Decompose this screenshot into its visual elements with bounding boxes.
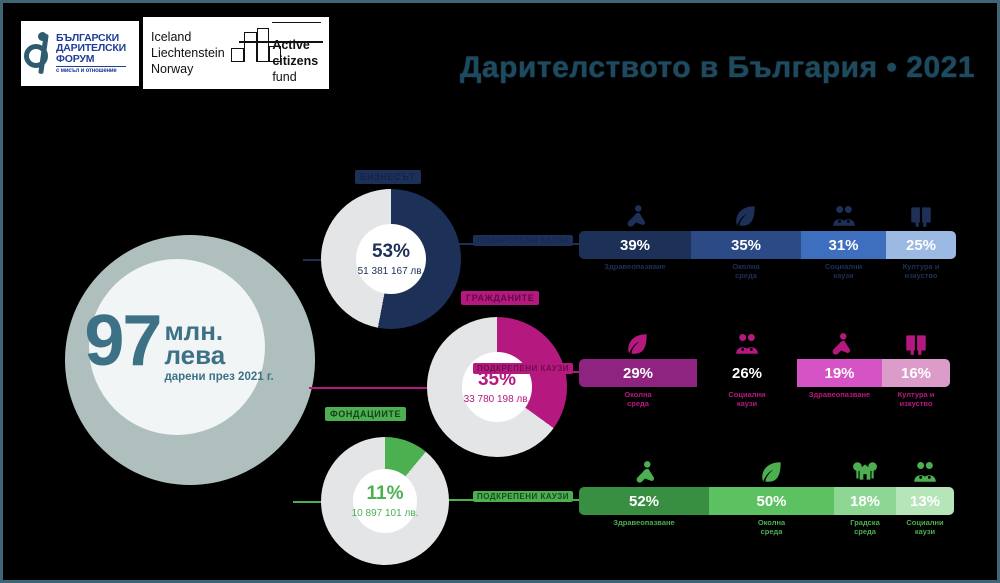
cause-percent-business-3: 25% <box>906 237 936 254</box>
cause-label-foundations-3: Социалникаузи <box>906 518 943 537</box>
book-icon <box>908 203 934 229</box>
cause-percent-citizens-0: 29% <box>623 365 653 382</box>
leaf-icon <box>733 203 759 229</box>
cause-label-foundations-0: Здравеопазване <box>613 518 674 527</box>
causes-title-citizens: ПОДКРЕПЕНИ КАУЗИ <box>473 363 573 374</box>
cause-segment-citizens-0[interactable]: 29%Околнасреда <box>579 359 697 387</box>
cause-label-foundations-1: Околнасреда <box>758 518 785 537</box>
cause-bar-row-business: 39%Здравеопазване35%Околнасреда31%Социал… <box>579 231 956 259</box>
cause-label-business-1: Околнасреда <box>732 262 759 281</box>
cause-segment-foundations-0[interactable]: 52%Здравеопазване <box>579 487 709 515</box>
health-ribbon-icon <box>827 331 853 357</box>
cause-label-business-3: Култура иизкуство <box>903 262 940 281</box>
cause-percent-foundations-0: 52% <box>629 493 659 510</box>
cause-percent-business-1: 35% <box>731 237 761 254</box>
donut-percent-business: 53% <box>372 242 410 261</box>
acf-name-fund: fund <box>272 70 296 84</box>
acf-logo-icon <box>231 28 267 62</box>
bdf-line3: ФОРУМ <box>56 54 126 65</box>
total-donations-circle: 97 млн. лева дарени през 2021 г. <box>65 235 315 485</box>
leaf-icon <box>625 331 651 357</box>
cause-bar-row-citizens: 29%Околнасреда26%Социалникаузи19%Здравео… <box>579 359 950 387</box>
cause-percent-business-0: 39% <box>620 237 650 254</box>
people-icon <box>912 459 938 485</box>
cause-segment-business-0[interactable]: 39%Здравеопазване <box>579 231 691 259</box>
donut-label-foundations: ФОНДАЦИИТЕ <box>325 407 406 421</box>
health-ribbon-icon <box>631 459 657 485</box>
connector-pink <box>309 387 439 389</box>
donut-percent-foundations: 11% <box>367 484 404 503</box>
donut-label-business: БИЗНЕСЪТ <box>355 170 421 184</box>
bdf-logo-icon <box>24 32 54 76</box>
cause-bars-citizens: 29%Околнасреда26%Социалникаузи19%Здравео… <box>579 359 950 387</box>
cause-segment-foundations-1[interactable]: 50%Околнасреда <box>709 487 834 515</box>
acf-country-iceland: Iceland <box>151 29 225 45</box>
cause-bar-row-foundations: 52%Здравеопазване50%Околнасреда18%Градск… <box>579 487 954 515</box>
cause-segment-business-1[interactable]: 35%Околнасреда <box>691 231 801 259</box>
cause-label-citizens-1: Социалникаузи <box>728 390 765 409</box>
bdf-tagline: с мисъл и отношение <box>56 66 126 74</box>
cause-label-citizens-2: Здравеопазване <box>809 390 870 399</box>
causes-title-foundations: ПОДКРЕПЕНИ КАУЗИ <box>473 491 573 502</box>
cause-percent-foundations-2: 18% <box>850 493 880 510</box>
acf-country-norway: Norway <box>151 61 225 77</box>
donut-amount-foundations: 10 897 101 лв. <box>352 508 419 519</box>
causes-title-business: ПОДКРЕПЕНИ КАУЗИ <box>473 235 573 246</box>
cause-bars-foundations: 52%Здравеопазване50%Околнасреда18%Градск… <box>579 487 954 515</box>
cause-bars-business: 39%Здравеопазване35%Околнасреда31%Социал… <box>579 231 956 259</box>
cause-percent-citizens-3: 16% <box>901 365 931 382</box>
cause-label-business-0: Здравеопазване <box>604 262 665 271</box>
donut-hole-business: 53% 51 381 167 лв. <box>356 224 426 294</box>
cause-label-foundations-2: Градскасреда <box>850 518 879 537</box>
cause-segment-foundations-3[interactable]: 13%Социалникаузи <box>896 487 954 515</box>
donut-label-citizens: ГРАЖДАНИТЕ <box>461 291 539 305</box>
acf-divider-rule <box>239 41 323 43</box>
cause-label-citizens-3: Култура иизкуство <box>898 390 935 409</box>
donut-amount-citizens: 33 780 198 лв. <box>464 394 531 405</box>
total-donations-inner: 97 млн. лева дарени през 2021 г. <box>89 259 265 435</box>
page-title: Дарителството в България • 2021 <box>460 51 975 85</box>
health-ribbon-icon <box>622 203 648 229</box>
people-icon <box>831 203 857 229</box>
cause-segment-foundations-2[interactable]: 18%Градскасреда <box>834 487 896 515</box>
donut-chart-business: 53% 51 381 167 лв. <box>321 189 461 329</box>
total-amount-number: 97 <box>84 311 160 372</box>
infographic-page: БЪЛГАРСКИ ДАРИТЕЛСКИ ФОРУМ с мисъл и отн… <box>0 0 1000 583</box>
donut-chart-citizens: 35% 33 780 198 лв. <box>427 317 567 457</box>
cause-percent-foundations-3: 13% <box>910 493 940 510</box>
active-citizens-fund-logo: Iceland Liechtenstein Norway Active citi… <box>143 17 329 89</box>
people-icon <box>734 331 760 357</box>
cause-percent-foundations-1: 50% <box>756 493 786 510</box>
cause-percent-citizens-2: 19% <box>824 365 854 382</box>
cause-label-citizens-0: Околнасреда <box>624 390 651 409</box>
donut-amount-business: 51 381 167 лв. <box>358 266 425 277</box>
cause-percent-citizens-1: 26% <box>732 365 762 382</box>
cause-label-business-2: Социалникаузи <box>825 262 862 281</box>
cause-segment-citizens-1[interactable]: 26%Социалникаузи <box>697 359 797 387</box>
park-icon <box>852 459 878 485</box>
donut-hole-foundations: 11% 10 897 101 лв. <box>353 469 417 533</box>
acf-country-liechtenstein: Liechtenstein <box>151 45 225 61</box>
cause-segment-business-3[interactable]: 25%Култура иизкуство <box>886 231 956 259</box>
leaf-icon <box>759 459 785 485</box>
total-subtitle: дарени през 2021 г. <box>164 371 273 383</box>
book-icon <box>903 331 929 357</box>
total-unit-line2: лева <box>164 344 273 368</box>
bulgarian-donors-forum-logo: БЪЛГАРСКИ ДАРИТЕЛСКИ ФОРУМ с мисъл и отн… <box>21 21 139 86</box>
cause-segment-citizens-2[interactable]: 19%Здравеопазване <box>797 359 882 387</box>
cause-segment-business-2[interactable]: 31%Социалникаузи <box>801 231 886 259</box>
donut-chart-foundations: 11% 10 897 101 лв. <box>321 437 449 565</box>
cause-segment-citizens-3[interactable]: 16%Култура иизкуство <box>882 359 950 387</box>
cause-percent-business-2: 31% <box>828 237 858 254</box>
